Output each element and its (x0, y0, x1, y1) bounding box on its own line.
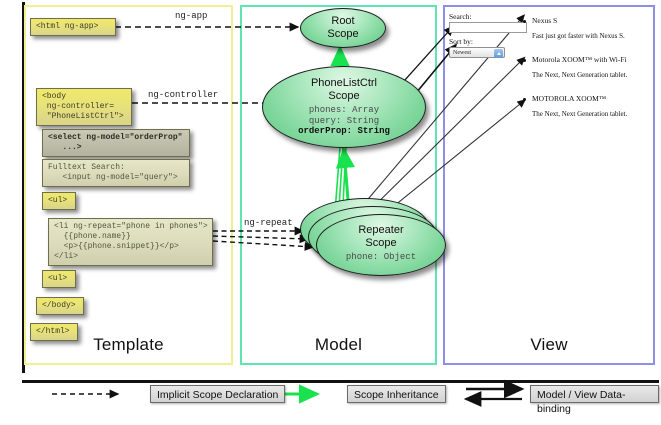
list-bullet (523, 20, 526, 23)
phone-name[interactable]: Motorola XOOM™ with Wi-Fi (532, 55, 627, 64)
legend-item-data-binding: Model / View Data-binding (530, 385, 659, 403)
legend-item-implicit-scope: Implicit Scope Declaration (150, 385, 285, 403)
code-box-body-close[interactable]: </body> (36, 297, 84, 315)
legend: Implicit Scope Declaration Scope Inherit… (22, 380, 659, 422)
sort-by-select[interactable]: Newest (449, 47, 505, 58)
edge-label-ng-controller: ng-controller (148, 90, 218, 100)
panel-view-title: View (445, 335, 653, 355)
phone-snippet: The Next, Next Generation tablet. (532, 110, 627, 118)
search-label: Search: (449, 12, 472, 21)
scope-root[interactable]: Root Scope (300, 8, 386, 48)
scope-repeater-prop-phone: phone: Object (317, 252, 445, 263)
legend-item-scope-inheritance: Scope Inheritance (347, 385, 446, 403)
panel-model: Model (240, 5, 437, 365)
code-box-ul-open[interactable]: <ul> (42, 192, 76, 210)
scope-ctrl-prop-query: query: String (263, 116, 425, 127)
edge-label-ng-repeat: ng-repeat (244, 218, 293, 228)
scope-ctrl-prop-phones: phones: Array (263, 105, 425, 116)
phone-name[interactable]: Nexus S (532, 16, 557, 25)
phone-snippet: The Next, Next Generation tablet. (532, 71, 627, 79)
scope-phonelistctrl[interactable]: PhoneListCtrl Scope phones: Array query:… (262, 66, 426, 148)
code-box-html-open[interactable]: <html ng-app> (30, 18, 116, 36)
sort-by-label: Sort by: (449, 37, 473, 46)
sort-by-selected-value: Newest (453, 50, 471, 56)
search-input[interactable] (449, 22, 527, 33)
scope-ctrl-title-2: Scope (328, 90, 359, 102)
scope-repeater-title-2: Scope (365, 237, 396, 249)
chevron-down-icon (494, 49, 503, 58)
edge-label-ng-app: ng-app (175, 11, 207, 21)
scope-ctrl-title-1: PhoneListCtrl (311, 77, 377, 89)
scope-root-title-1: Root (331, 15, 354, 27)
panel-model-title: Model (242, 335, 435, 355)
code-box-html-close[interactable]: </html> (30, 323, 78, 341)
phone-name[interactable]: MOTOROLA XOOM™ (532, 94, 606, 103)
scope-repeater[interactable]: Repeater Scope phone: Object (316, 214, 446, 276)
scope-root-title-2: Scope (327, 28, 358, 40)
phone-snippet: Fast just got faster with Nexus S. (532, 32, 625, 40)
code-box-select-tag[interactable]: <select ng-model="orderProp" ...> (42, 129, 190, 157)
view-rendered-page: Search: Sort by: Newest Nexus S Fast jus… (449, 12, 649, 122)
code-box-fulltext-search[interactable]: Fulltext Search: <input ng-model="query"… (42, 159, 190, 187)
list-bullet (523, 98, 526, 101)
legend-divider (22, 380, 659, 383)
scope-ctrl-prop-orderprop: orderProp: String (298, 126, 390, 136)
code-box-body-open[interactable]: <body ng-controller= "PhoneListCtrl"> (36, 88, 132, 126)
scope-repeater-title-1: Repeater (358, 224, 403, 236)
code-box-li-repeat[interactable]: <li ng-repeat="phone in phones"> {{phone… (48, 218, 213, 266)
code-box-ul-close[interactable]: <ul> (42, 270, 76, 288)
list-bullet (523, 59, 526, 62)
